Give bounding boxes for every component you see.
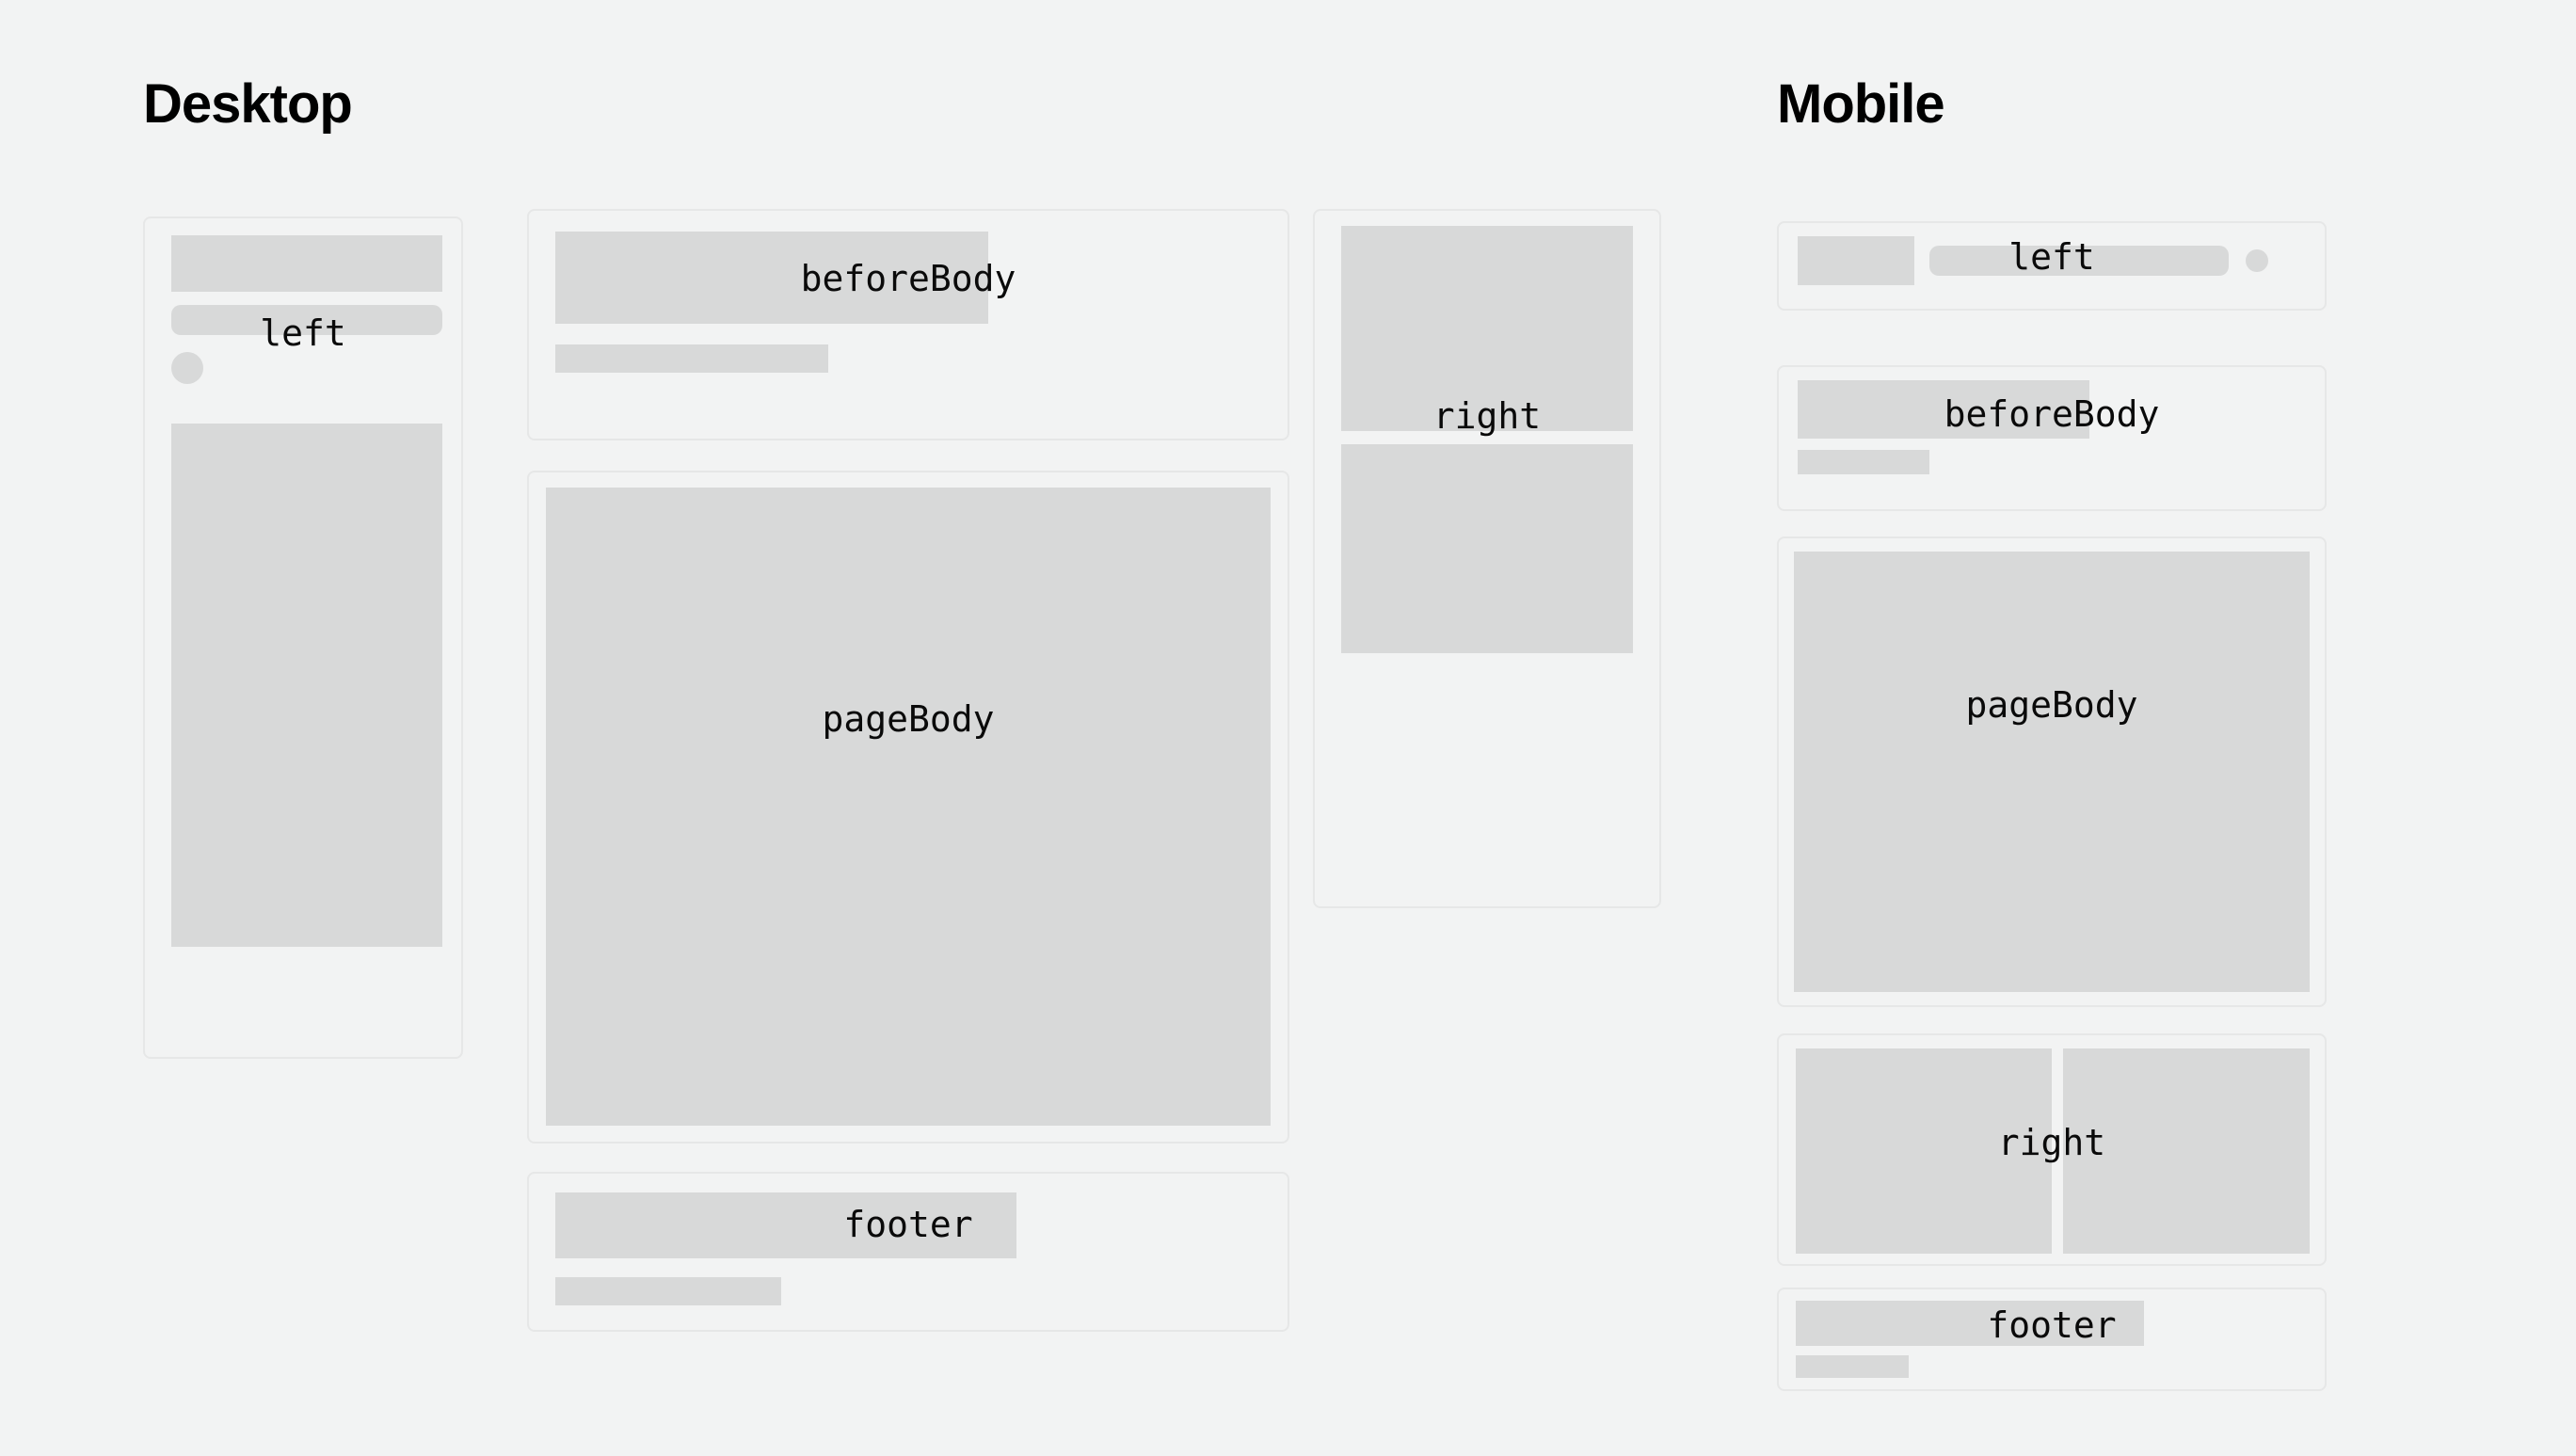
placeholder-hero-block [555,1192,1016,1258]
desktop-slot-pagebody[interactable]: pageBody [527,471,1289,1144]
mobile-slot-right[interactable]: right [1777,1033,2327,1266]
placeholder-hero-block [555,232,988,324]
placeholder-block-bottom [1341,444,1633,653]
placeholder-bar [171,305,442,335]
placeholder-hero-block [1798,380,2089,439]
mobile-slot-footer[interactable]: footer [1777,1288,2327,1391]
desktop-slot-right[interactable]: right [1313,209,1661,908]
placeholder-block-right [2063,1048,2310,1254]
desktop-slot-footer[interactable]: footer [527,1172,1289,1332]
placeholder-avatar-dot [2246,249,2268,272]
placeholder-bar [1798,450,1929,474]
placeholder-hero-block [1796,1301,2144,1346]
mobile-slot-pagebody[interactable]: pageBody [1777,536,2327,1007]
placeholder-bar [555,1277,781,1305]
desktop-section-title: Desktop [143,77,352,132]
placeholder-bar [1796,1355,1909,1378]
placeholder-main-block [171,424,442,947]
desktop-slot-beforebody[interactable]: beforeBody [527,209,1289,440]
mobile-slot-left[interactable]: left [1777,221,2327,311]
placeholder-main-block [546,488,1271,1126]
placeholder-avatar-dot [171,352,203,384]
desktop-slot-left[interactable]: left [143,216,463,1059]
placeholder-hero-block [1798,236,1914,285]
placeholder-bar [1929,246,2229,276]
placeholder-bar [555,344,828,373]
placeholder-hero-block [171,235,442,292]
placeholder-block-left [1796,1048,2052,1254]
mobile-slot-beforebody[interactable]: beforeBody [1777,365,2327,511]
placeholder-main-block [1794,552,2310,992]
mobile-section-title: Mobile [1777,77,1944,132]
placeholder-block-top [1341,226,1633,431]
